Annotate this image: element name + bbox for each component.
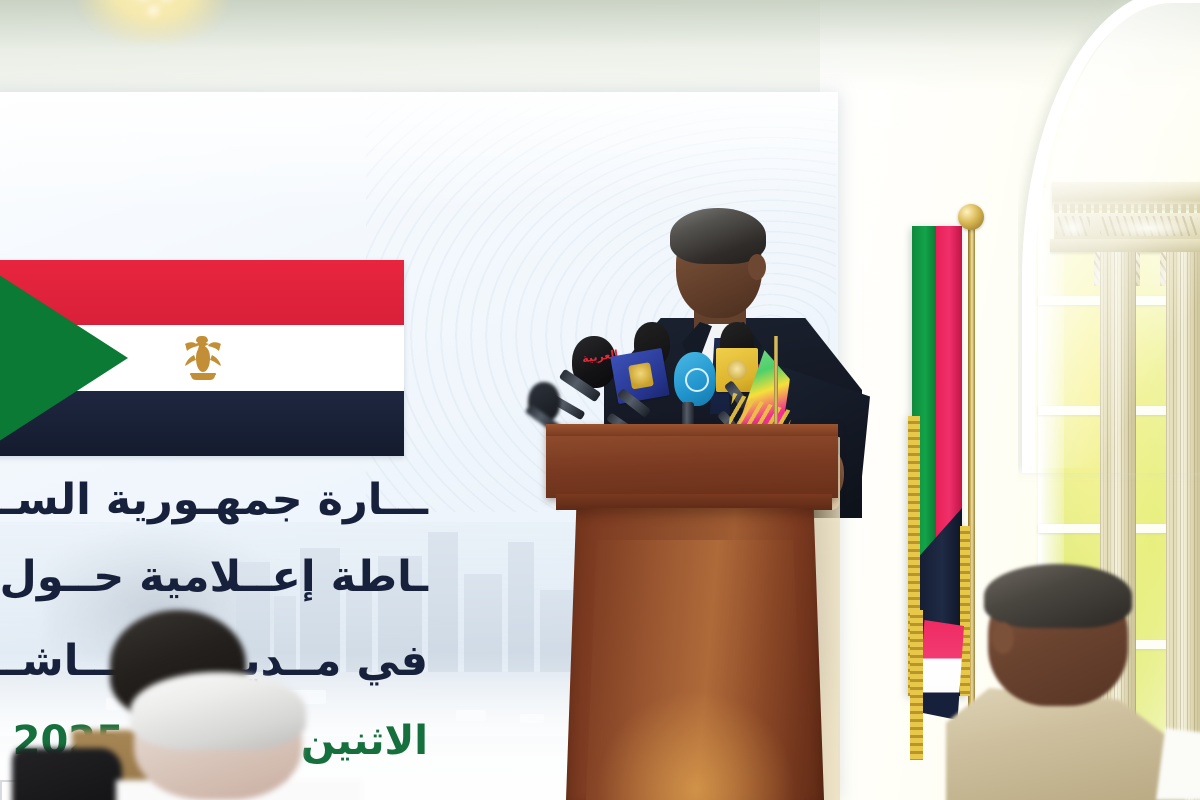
arch-shading (1038, 0, 1200, 468)
audience-hair (984, 564, 1132, 628)
audience-man-white-hair (108, 676, 368, 800)
banner-line-1: ـــارة جمهـورية السـودان ـ (0, 475, 428, 525)
chandelier-icon (78, 0, 228, 44)
banner-line-2: ـاطة إعــلامية حــول الأحداث (0, 552, 428, 602)
arch-container (1018, 0, 1200, 550)
lectern-top-edge (546, 424, 838, 436)
audience-dark-figure (12, 748, 122, 800)
press-conference-scene: ـــارة جمهـورية السـودان ـ ـاطة إعــلامي… (0, 0, 1200, 800)
audience-ear (992, 622, 1014, 654)
flag-fringe (910, 610, 923, 760)
audience-man-beige-jacket (960, 568, 1200, 800)
audience-white-hair (130, 672, 306, 750)
lectern-light-glow (596, 690, 796, 800)
lectern-lip (556, 494, 832, 510)
secretary-bird-emblem-icon (181, 330, 225, 384)
flag-lower-tail (918, 620, 964, 720)
speaker-ear (748, 254, 766, 280)
banner-top-fade (0, 92, 838, 212)
